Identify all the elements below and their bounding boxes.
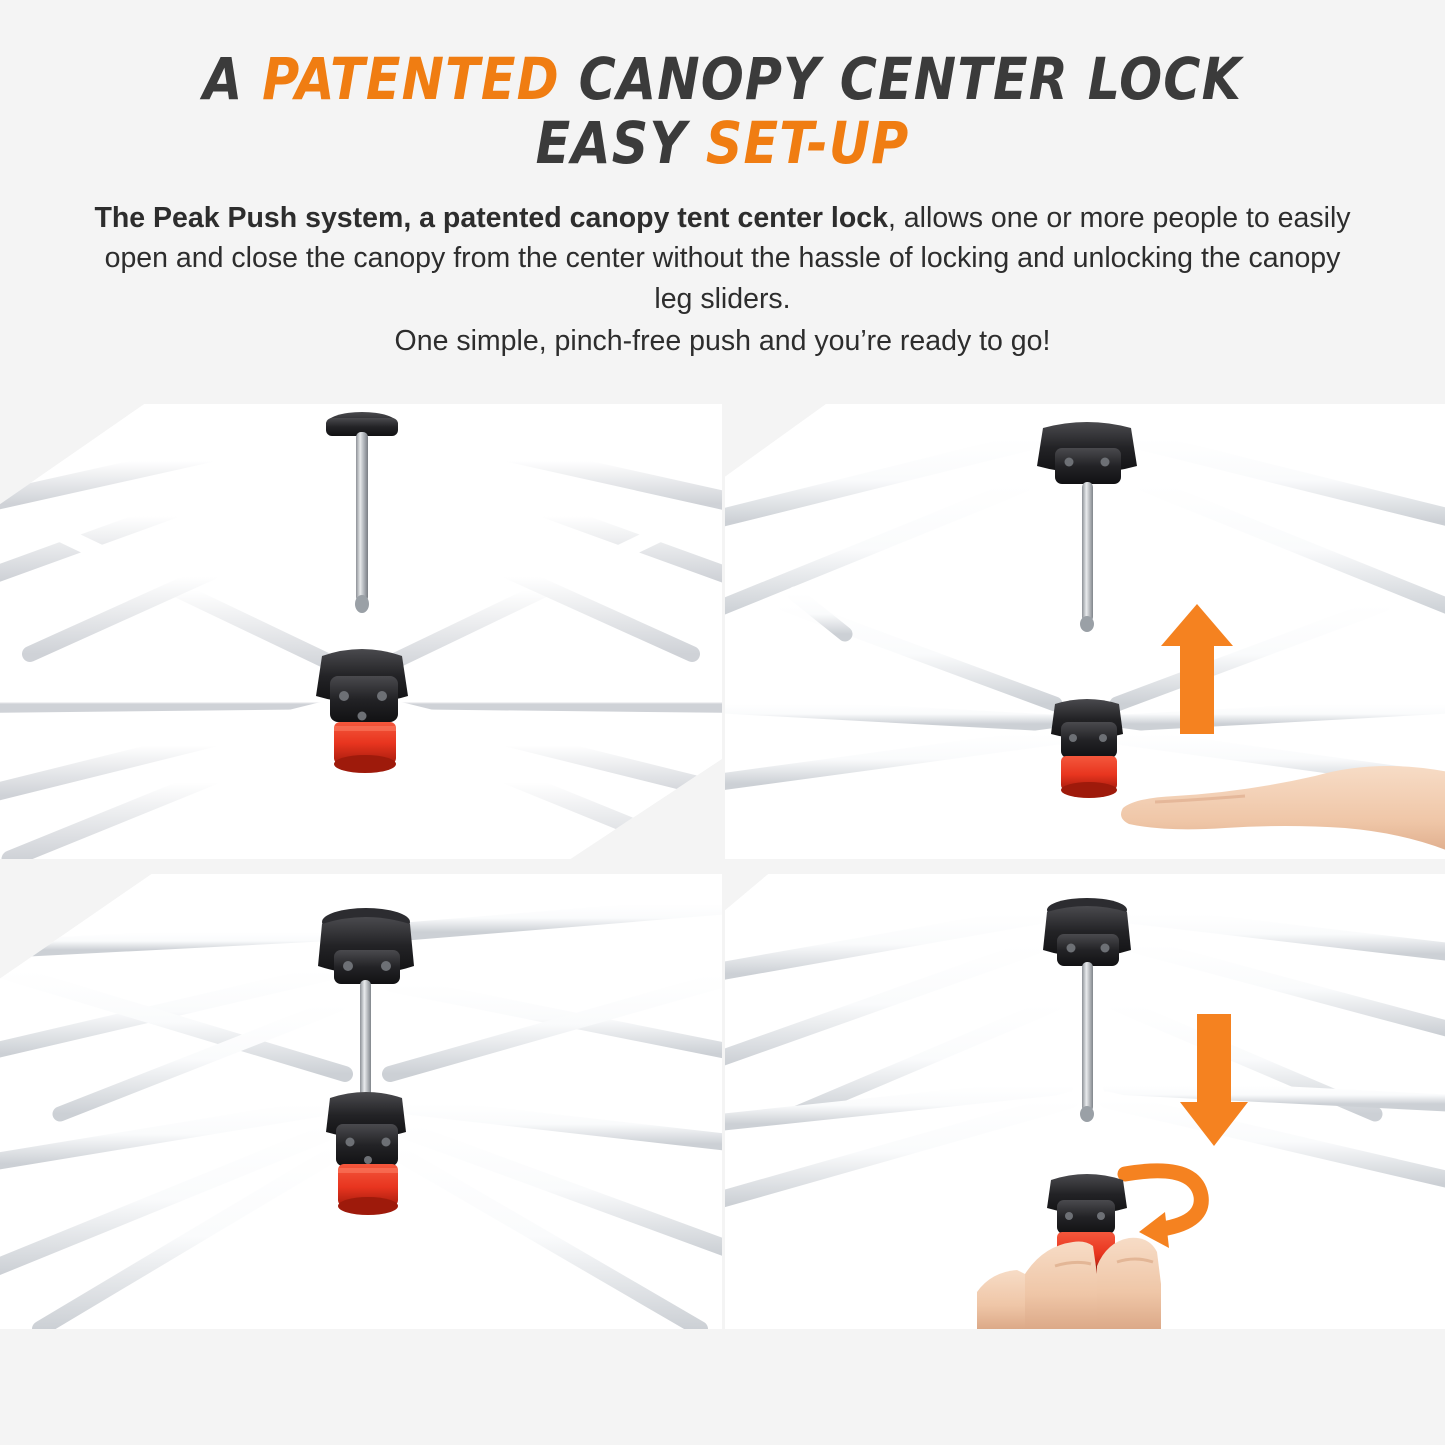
paragraph-second-line: One simple, pinch-free push and you’re r… bbox=[85, 321, 1360, 361]
headline-line2-highlight: SET-UP bbox=[706, 109, 909, 177]
push-rod bbox=[360, 980, 371, 1106]
headline-line2-part1: EASY bbox=[536, 109, 706, 177]
panel-push-up bbox=[725, 404, 1445, 859]
panel-twist-release bbox=[725, 874, 1445, 1329]
center-hub bbox=[1051, 699, 1123, 758]
panel-2-photo bbox=[725, 404, 1445, 859]
panel-1-photo bbox=[0, 404, 722, 859]
panel-3-photo bbox=[0, 874, 722, 1329]
push-rod bbox=[1082, 962, 1093, 1112]
center-hub bbox=[1047, 1174, 1127, 1234]
headline-line1-highlight: PATENTED bbox=[262, 45, 560, 113]
headline-line1-part1: A bbox=[203, 45, 262, 113]
description-paragraph: The Peak Push system, a patented canopy … bbox=[85, 198, 1360, 362]
panel-frame-extended bbox=[0, 404, 722, 859]
center-hub bbox=[326, 1092, 406, 1166]
push-rod bbox=[356, 432, 368, 602]
headline-line-2: EASY SET-UP bbox=[22, 112, 1424, 176]
paragraph-bold-lead: The Peak Push system, a patented canopy … bbox=[94, 202, 888, 234]
panel-frame-locked bbox=[0, 874, 722, 1329]
headline-line-1: A PATENTED CANOPY CENTER LOCK bbox=[22, 48, 1424, 112]
push-rod bbox=[1082, 482, 1093, 622]
headline-block: A PATENTED CANOPY CENTER LOCK EASY SET-U… bbox=[0, 0, 1445, 176]
red-collar bbox=[334, 722, 396, 773]
red-collar bbox=[1061, 756, 1117, 798]
red-collar bbox=[338, 1164, 398, 1215]
headline-line1-part2: CANOPY CENTER LOCK bbox=[560, 45, 1242, 113]
photo-grid bbox=[0, 404, 1445, 1329]
infographic-page: A PATENTED CANOPY CENTER LOCK EASY SET-U… bbox=[0, 0, 1445, 1445]
panel-4-photo bbox=[725, 874, 1445, 1329]
